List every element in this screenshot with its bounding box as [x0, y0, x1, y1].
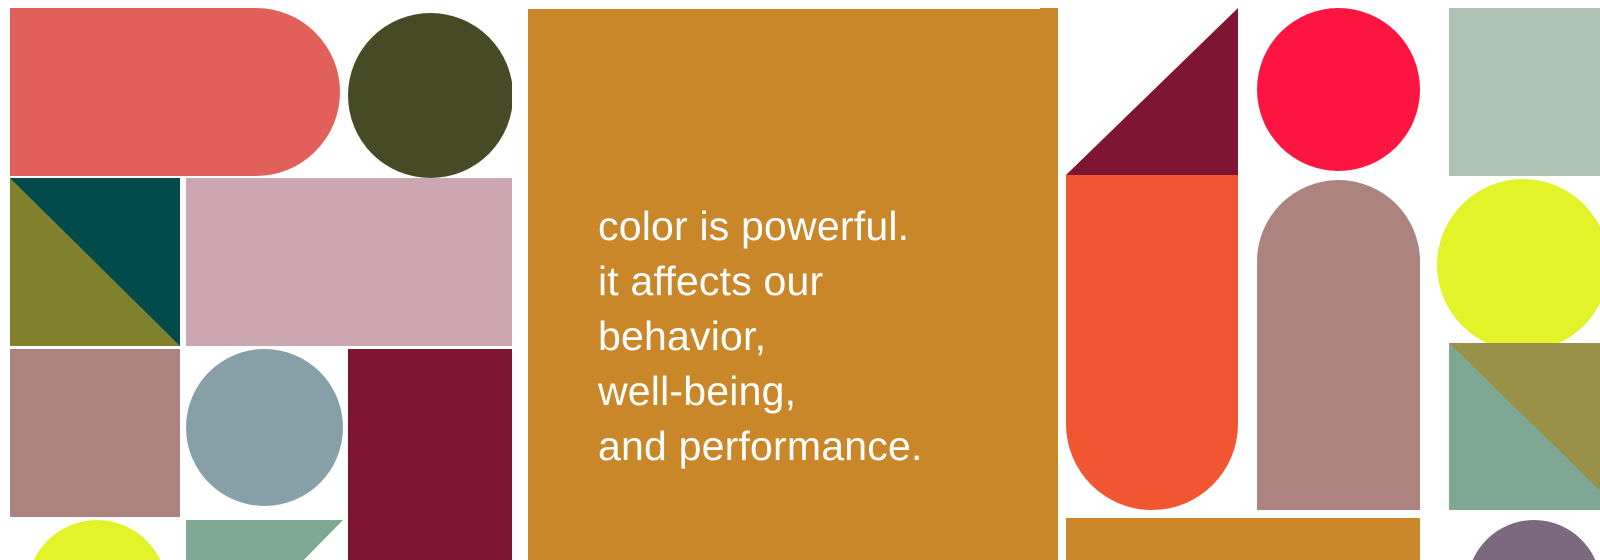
poster-canvas: color is powerful. it affects our behavi…	[0, 0, 1600, 560]
dusty-pink-rect-shape	[186, 178, 512, 346]
ochre-bottom-bar-shape	[1066, 518, 1420, 560]
mauve-rose-square-shape	[10, 349, 180, 517]
purple-circle-shape	[1467, 520, 1600, 560]
lime-circle-shape	[27, 520, 167, 560]
slate-blue-circle-shape	[186, 349, 343, 506]
orange-rounded-bottom-shape	[1066, 175, 1238, 510]
mauve-arch-shape	[1257, 180, 1420, 510]
salmon-rounded-bar-shape	[10, 8, 340, 176]
bright-red-circle-shape	[1257, 8, 1420, 171]
olive-circle-shape	[348, 13, 512, 178]
quote-line-4: well-being,	[598, 364, 923, 419]
left-collage-panel	[10, 8, 512, 560]
maroon-square-shape	[348, 349, 512, 560]
sage-pale-square-shape	[1449, 8, 1600, 176]
quote-line-2: it affects our	[598, 254, 923, 309]
right-collage-panel	[1040, 0, 1600, 560]
quote-line-1: color is powerful.	[598, 199, 923, 254]
sage-green-triangle-shape	[186, 520, 343, 560]
maroon-triangle-shape	[1066, 8, 1238, 175]
center-quote-panel: color is powerful. it affects our behavi…	[528, 9, 1050, 560]
quote-line-5: and performance.	[598, 419, 923, 474]
lime-circle-right-shape	[1437, 179, 1600, 351]
quote-line-3: behavior,	[598, 309, 923, 364]
ochre-side-bar-shape	[1040, 8, 1058, 560]
quote-text-block: color is powerful. it affects our behavi…	[598, 199, 923, 474]
